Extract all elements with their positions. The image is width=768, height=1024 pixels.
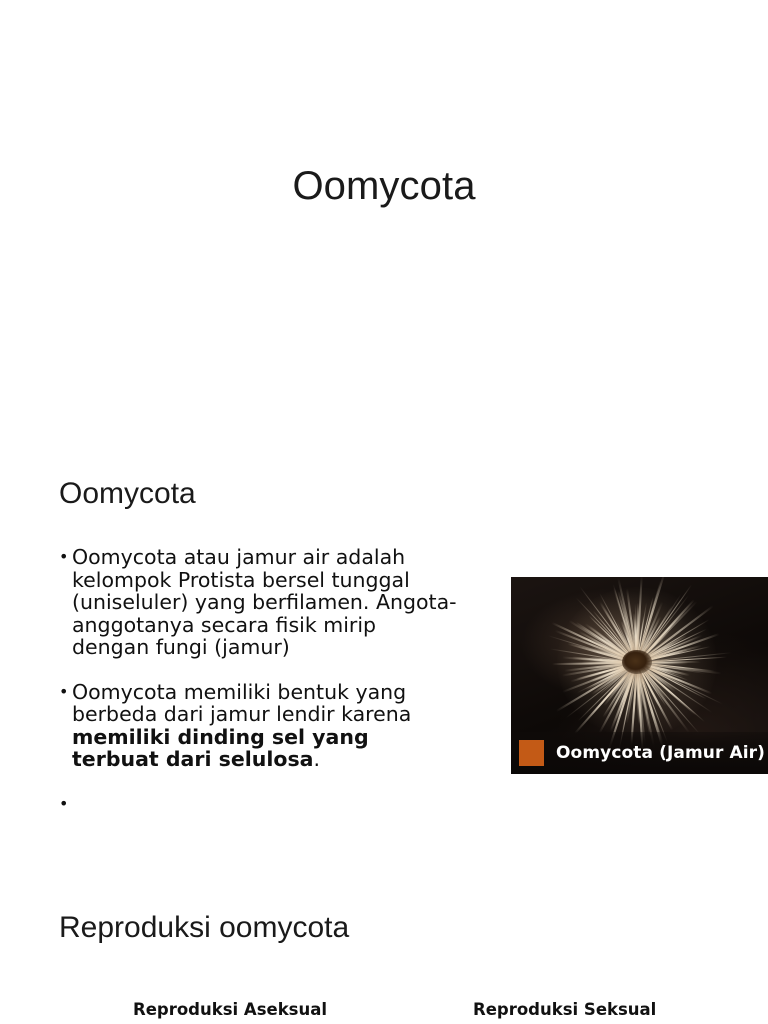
orange-swatch-icon	[519, 740, 544, 766]
column-label-seksual: Reproduksi Seksual	[473, 1000, 656, 1019]
filament-core	[622, 650, 652, 674]
section-heading-reproduksi: Reproduksi oomycota	[59, 911, 349, 946]
page-title: Oomycota	[0, 163, 768, 209]
oomycota-photo: Oomycota (Jamur Air)	[511, 577, 768, 774]
bullet-text-lead: Oomycota atau jamur air adalah kelompok …	[72, 545, 457, 659]
bullet-text-lead: Oomycota memiliki bentuk yang berbeda da…	[72, 680, 411, 727]
bullet-list: Oomycota atau jamur air adalah kelompok …	[58, 546, 458, 815]
bullet-text-bold: memiliki dinding sel yang terbuat dari s…	[72, 725, 369, 772]
section-heading-oomycota: Oomycota	[59, 477, 196, 512]
list-item: Oomycota atau jamur air adalah kelompok …	[58, 546, 458, 659]
photo-caption: Oomycota (Jamur Air)	[511, 732, 768, 774]
column-label-aseksual: Reproduksi Aseksual	[133, 1000, 327, 1019]
photo-caption-label: Oomycota (Jamur Air)	[556, 743, 765, 763]
list-item-empty	[58, 793, 458, 815]
bullet-text-tail: .	[314, 747, 321, 771]
list-item: Oomycota memiliki bentuk yang berbeda da…	[58, 681, 458, 771]
